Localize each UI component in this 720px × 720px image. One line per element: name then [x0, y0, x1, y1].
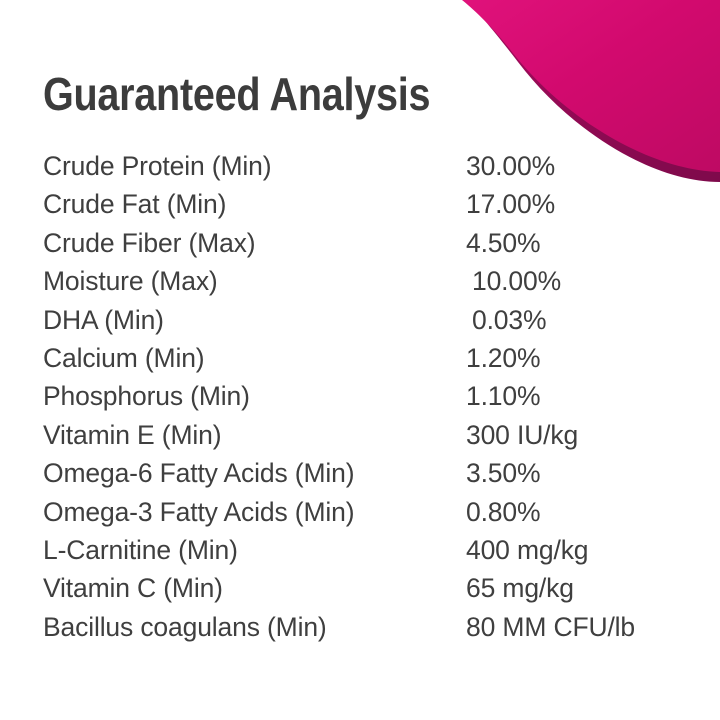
nutrient-label: DHA (Min): [43, 301, 466, 339]
nutrient-label: Calcium (Min): [43, 339, 466, 377]
table-row: Omega-6 Fatty Acids (Min) 3.50%: [43, 454, 693, 492]
nutrient-value: 300 IU/kg: [466, 416, 578, 454]
nutrient-label: Bacillus coagulans (Min): [43, 608, 466, 646]
table-row: L-Carnitine (Min) 400 mg/kg: [43, 531, 693, 569]
nutrient-label: Crude Fiber (Max): [43, 224, 466, 262]
table-row: Crude Fiber (Max) 4.50%: [43, 224, 693, 262]
nutrient-value: 4.50%: [466, 224, 540, 262]
nutrient-value: 1.10%: [466, 377, 540, 415]
table-row: Bacillus coagulans (Min) 80 MM CFU/lb: [43, 608, 693, 646]
nutrient-label: Phosphorus (Min): [43, 377, 466, 415]
table-row: Omega-3 Fatty Acids (Min) 0.80%: [43, 493, 693, 531]
nutrient-label: Moisture (Max): [43, 262, 466, 300]
nutrient-label: Vitamin E (Min): [43, 416, 466, 454]
nutrient-value: 1.20%: [466, 339, 540, 377]
page-title: Guaranteed Analysis: [43, 67, 430, 121]
nutrient-label: Crude Fat (Min): [43, 185, 466, 223]
table-row: Crude Protein (Min) 30.00%: [43, 147, 693, 185]
nutrient-value: 80 MM CFU/lb: [466, 608, 635, 646]
table-row: Vitamin E (Min) 300 IU/kg: [43, 416, 693, 454]
nutrient-label: Omega-3 Fatty Acids (Min): [43, 493, 466, 531]
guaranteed-analysis-panel: Guaranteed Analysis Crude Protein (Min) …: [0, 0, 720, 720]
nutrient-value: 0.03%: [466, 301, 546, 339]
table-row: DHA (Min) 0.03%: [43, 301, 693, 339]
nutrient-value: 30.00%: [466, 147, 555, 185]
nutrient-label: Omega-6 Fatty Acids (Min): [43, 454, 466, 492]
nutrient-value: 0.80%: [466, 493, 540, 531]
nutrient-value: 400 mg/kg: [466, 531, 588, 569]
nutrient-value: 17.00%: [466, 185, 555, 223]
nutrient-label: Vitamin C (Min): [43, 569, 466, 607]
table-row: Phosphorus (Min) 1.10%: [43, 377, 693, 415]
nutrient-value: 3.50%: [466, 454, 540, 492]
table-row: Vitamin C (Min) 65 mg/kg: [43, 569, 693, 607]
nutrient-label: Crude Protein (Min): [43, 147, 466, 185]
table-row: Calcium (Min) 1.20%: [43, 339, 693, 377]
table-row: Crude Fat (Min) 17.00%: [43, 185, 693, 223]
nutrient-label: L-Carnitine (Min): [43, 531, 466, 569]
table-row: Moisture (Max) 10.00%: [43, 262, 693, 300]
nutrient-value: 65 mg/kg: [466, 569, 574, 607]
guaranteed-analysis-table: Crude Protein (Min) 30.00% Crude Fat (Mi…: [43, 147, 693, 646]
nutrient-value: 10.00%: [466, 262, 561, 300]
